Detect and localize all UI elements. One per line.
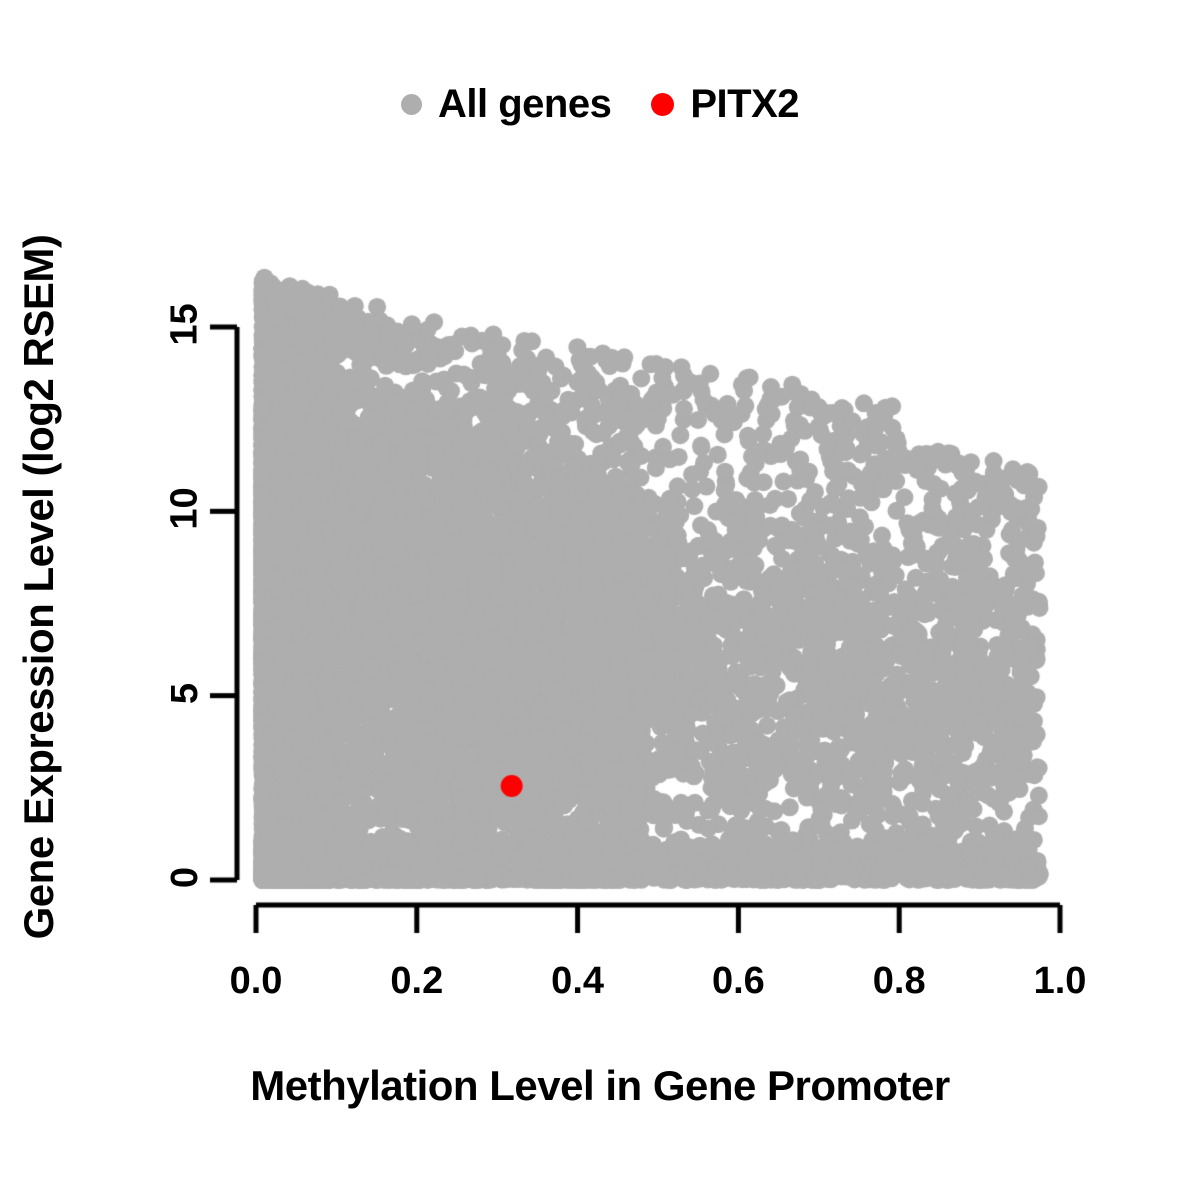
x-tick-label-0: 0.0 <box>230 960 283 1003</box>
scatter-plot-canvas <box>0 0 1200 1200</box>
x-tick-label-2: 0.4 <box>551 960 604 1003</box>
x-tick-label-3: 0.6 <box>712 960 765 1003</box>
x-tick-label-4: 0.8 <box>873 960 926 1003</box>
y-tick-label-0: 0 <box>164 866 207 889</box>
y-tick-label-3: 15 <box>164 302 207 348</box>
y-tick-label-2: 10 <box>164 486 207 532</box>
x-tick-label-5: 1.0 <box>1034 960 1087 1003</box>
y-axis-title: Gene Expression Level (log2 RSEM) <box>15 167 63 1007</box>
x-axis-title: Methylation Level in Gene Promoter <box>0 1062 1200 1110</box>
x-tick-label-1: 0.2 <box>390 960 443 1003</box>
scatter-plot-figure: All genes PITX2 0.00.20.40.60.81.0 05101… <box>0 0 1200 1200</box>
y-tick-label-1: 5 <box>164 682 207 705</box>
